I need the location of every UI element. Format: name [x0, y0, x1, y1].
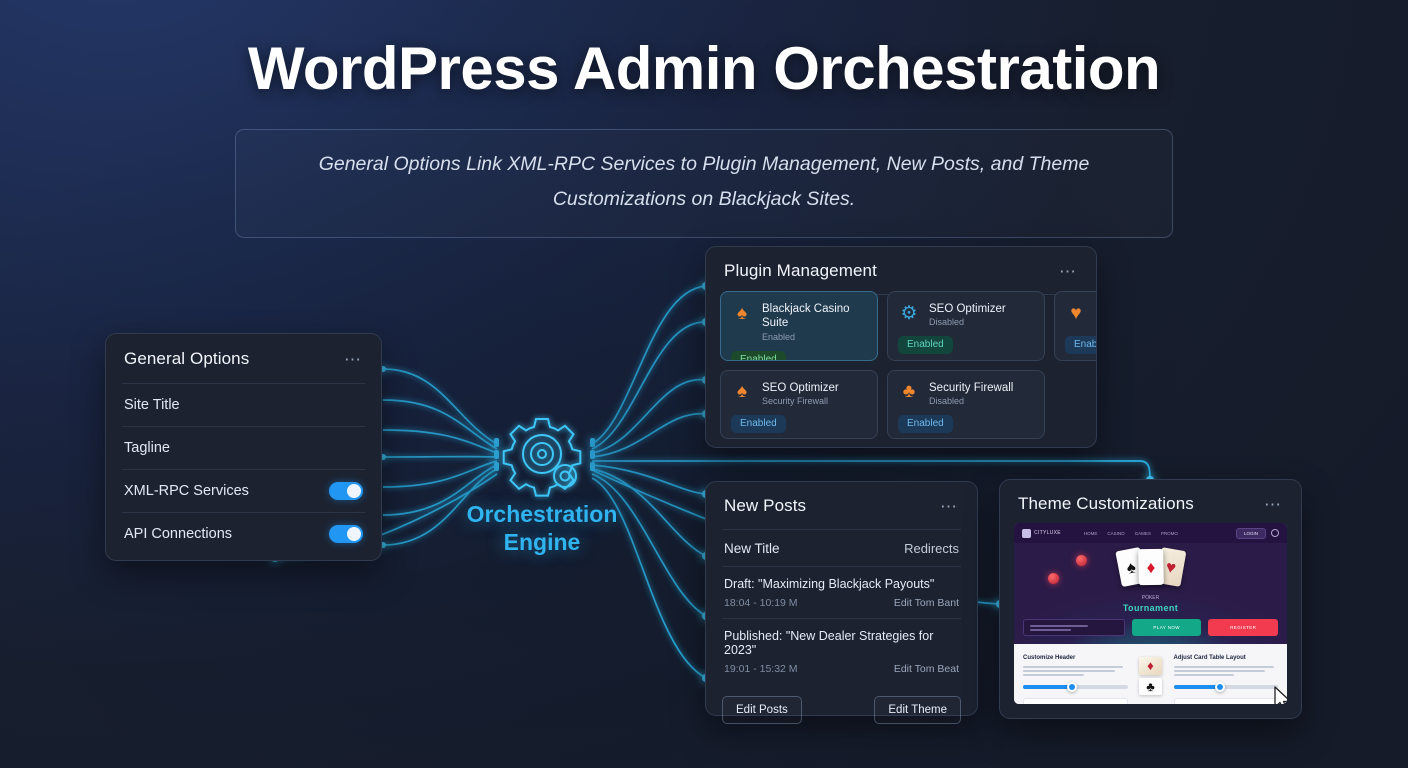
- nav-item[interactable]: CASINO: [1107, 531, 1124, 536]
- option-label: XML-RPC Services: [124, 483, 249, 499]
- plugin-name: SEO Optimizer: [929, 302, 1006, 316]
- new-title-value: Redirects: [904, 541, 959, 556]
- header-swatches[interactable]: NEW EDIT OFF: [1023, 698, 1128, 704]
- option-label: Site Title: [124, 397, 180, 413]
- card-diamond: ♦: [1138, 549, 1164, 585]
- gear-icon: ⚙: [898, 302, 920, 324]
- chip-icon: [1076, 555, 1087, 566]
- edit-theme-button[interactable]: Edit Theme: [874, 696, 961, 724]
- option-row-api-connections[interactable]: API Connections: [122, 512, 365, 555]
- new-title-label: New Title: [724, 541, 780, 556]
- theme-preview[interactable]: CITYLUXE HOME CASINO GAMES PROMO LOGIN: [1014, 523, 1287, 704]
- theme-customizations-menu-icon[interactable]: ⋯: [1264, 496, 1283, 513]
- chip-icon: [1048, 573, 1059, 584]
- general-options-menu-icon[interactable]: ⋯: [344, 351, 363, 368]
- edit-posts-button[interactable]: Edit Posts: [722, 696, 802, 724]
- placeholder-text: [1174, 666, 1279, 676]
- nav-item[interactable]: HOME: [1084, 531, 1098, 536]
- new-posts-actions: Edit Posts Edit Theme: [722, 696, 961, 724]
- hero-kicker: POKER: [1014, 595, 1287, 601]
- plugin-card-top: ♣ Security Firewall Disabled: [898, 381, 1034, 406]
- plugin-card[interactable]: ⚙ SEO Optimizer Disabled Enabled: [887, 291, 1045, 361]
- general-options-title: General Options: [124, 349, 249, 369]
- play-now-button[interactable]: PLAY NOW: [1132, 619, 1202, 636]
- theme-customizations-header: Theme Customizations ⋯: [1000, 480, 1301, 527]
- register-button[interactable]: REGISTER: [1208, 619, 1278, 636]
- table-layout-swatches[interactable]: FIX STD HIT SPLIT STAY: [1174, 698, 1279, 704]
- club-icon: ♣: [898, 381, 920, 403]
- spade-icon: ♠: [731, 381, 753, 403]
- plugin-card[interactable]: ♥ Secu Secur Enabled: [1054, 291, 1096, 361]
- plugin-status-text: Enabled: [762, 332, 867, 342]
- status-badge: Enabled: [898, 415, 953, 433]
- mini-card-face: ♣: [1139, 678, 1162, 696]
- status-badge: Enabled: [731, 415, 786, 433]
- theme-preview-logo: CITYLUXE: [1022, 529, 1061, 538]
- playing-cards-group: ♠ ♦ ♥: [1118, 549, 1183, 585]
- plugin-card-top: ⚙ SEO Optimizer Disabled: [898, 302, 1034, 327]
- hero-title: Tournament: [1014, 603, 1287, 613]
- placeholder-text: [1023, 666, 1128, 676]
- post-meta: 18:04 - 10:19 M Edit Tom Bant: [724, 597, 959, 609]
- card-table-layout-panel: Adjust Card Table Layout FIX STD HIT SPL…: [1174, 655, 1279, 695]
- plugin-card[interactable]: ♠ SEO Optimizer Security Firewall Enable…: [720, 370, 878, 440]
- preview-mini-cards: ♦ ♣: [1135, 655, 1167, 695]
- post-timestamp: 18:04 - 10:19 M: [724, 597, 798, 609]
- post-edit-action[interactable]: Edit Tom Beat: [894, 663, 959, 675]
- post-title: Published: "New Dealer Strategies for 20…: [724, 629, 959, 657]
- xmlrpc-toggle[interactable]: [329, 482, 363, 500]
- plugin-name: Blackjack Casino Suite: [762, 302, 867, 331]
- option-row-tagline[interactable]: Tagline: [122, 426, 365, 469]
- plugin-management-header: Plugin Management ⋯: [706, 247, 1096, 294]
- general-options-header: General Options ⋯: [106, 334, 381, 383]
- subtitle-box: General Options Link XML-RPC Services to…: [235, 129, 1173, 238]
- engine-label-line2: Engine: [449, 529, 635, 557]
- page-canvas: WordPress Admin Orchestration General Op…: [0, 0, 1408, 768]
- new-posts-panel: New Posts ⋯ New Title Redirects Draft: "…: [705, 481, 978, 716]
- spade-icon: ♠: [731, 302, 753, 324]
- post-timestamp: 19:01 - 15:32 M: [724, 663, 798, 675]
- plugin-grid: ♠ Blackjack Casino Suite Enabled Enabled…: [720, 291, 1096, 439]
- panel-heading: Customize Header: [1023, 655, 1128, 661]
- general-options-panel: General Options ⋯ Site Title Tagline XML…: [105, 333, 382, 561]
- plugin-management-menu-icon[interactable]: ⋯: [1059, 263, 1078, 280]
- engine-label-line1: Orchestration: [449, 501, 635, 529]
- plugin-management-title: Plugin Management: [724, 261, 877, 281]
- hero-search-input[interactable]: [1023, 619, 1125, 636]
- post-meta: 19:01 - 15:32 M Edit Tom Beat: [724, 663, 959, 675]
- page-header: WordPress Admin Orchestration General Op…: [0, 34, 1408, 238]
- heart-icon: ♥: [1065, 302, 1087, 324]
- new-posts-header: New Posts ⋯: [706, 482, 977, 529]
- post-title: Draft: "Maximizing Blackjack Payouts": [724, 577, 959, 591]
- option-row-site-title[interactable]: Site Title: [122, 383, 365, 426]
- theme-preview-controls: Customize Header NEW EDIT OFF ♦ ♣: [1014, 644, 1287, 704]
- plugin-card-top: ♥ Secu Secur: [1065, 302, 1096, 327]
- plugin-card-top: ♠ Blackjack Casino Suite Enabled: [731, 302, 867, 342]
- plugin-status-text: Disabled: [929, 317, 1006, 327]
- plugin-status-text: Security Firewall: [762, 396, 839, 406]
- brand-name: CITYLUXE: [1034, 530, 1061, 536]
- hero-actions: PLAY NOW REGISTER: [1023, 619, 1278, 636]
- plugin-card-top: ♠ SEO Optimizer Security Firewall: [731, 381, 867, 406]
- nav-item[interactable]: GAMES: [1135, 531, 1151, 536]
- status-badge: Enabled: [898, 336, 953, 354]
- panel-heading: Adjust Card Table Layout: [1174, 655, 1279, 661]
- option-label: API Connections: [124, 526, 232, 542]
- option-label: Tagline: [124, 440, 170, 456]
- gears-icon: [449, 413, 635, 501]
- plugin-name: SEO Optimizer: [762, 381, 839, 395]
- mini-card-face: ♦: [1139, 657, 1162, 675]
- theme-customizations-title: Theme Customizations: [1018, 494, 1194, 514]
- new-posts-menu-icon[interactable]: ⋯: [940, 498, 959, 515]
- option-row-xmlrpc[interactable]: XML-RPC Services: [122, 469, 365, 512]
- theme-preview-navbar: CITYLUXE HOME CASINO GAMES PROMO LOGIN: [1014, 523, 1287, 543]
- theme-customizations-panel: Theme Customizations ⋯ CITYLUXE HOME CAS…: [999, 479, 1302, 719]
- new-posts-title: New Posts: [724, 496, 806, 516]
- page-title: WordPress Admin Orchestration: [0, 34, 1408, 103]
- table-layout-slider[interactable]: [1174, 685, 1279, 689]
- plugin-card[interactable]: ♣ Security Firewall Disabled Enabled: [887, 370, 1045, 440]
- theme-preview-nav-actions: LOGIN: [1236, 528, 1279, 539]
- bell-icon[interactable]: [1271, 529, 1279, 537]
- post-list-item[interactable]: Published: "New Dealer Strategies for 20…: [722, 618, 961, 684]
- status-badge: Enabled: [1065, 336, 1096, 354]
- post-list-item[interactable]: Draft: "Maximizing Blackjack Payouts" 18…: [722, 566, 961, 618]
- nav-item[interactable]: PROMO: [1161, 531, 1178, 536]
- plugin-status-text: Disabled: [929, 396, 1013, 406]
- plugin-management-panel: Plugin Management ⋯ ♠ Blackjack Casino S…: [705, 246, 1097, 448]
- post-edit-action[interactable]: Edit Tom Bant: [894, 597, 959, 609]
- theme-preview-nav-items: HOME CASINO GAMES PROMO: [1084, 531, 1178, 536]
- theme-preview-hero: CITYLUXE HOME CASINO GAMES PROMO LOGIN: [1014, 523, 1287, 644]
- shield-icon: [1022, 529, 1031, 538]
- page-subtitle: General Options Link XML-RPC Services to…: [262, 147, 1146, 218]
- plugin-name: Security Firewall: [929, 381, 1013, 395]
- orchestration-engine: Orchestration Engine: [449, 413, 635, 568]
- customize-header-panel: Customize Header NEW EDIT OFF: [1023, 655, 1128, 695]
- api-connections-toggle[interactable]: [329, 525, 363, 543]
- status-badge: Enabled: [731, 351, 786, 361]
- login-button[interactable]: LOGIN: [1236, 528, 1266, 539]
- plugin-card[interactable]: ♠ Blackjack Casino Suite Enabled Enabled: [720, 291, 878, 361]
- header-slider[interactable]: [1023, 685, 1128, 689]
- new-title-row[interactable]: New Title Redirects: [722, 529, 961, 566]
